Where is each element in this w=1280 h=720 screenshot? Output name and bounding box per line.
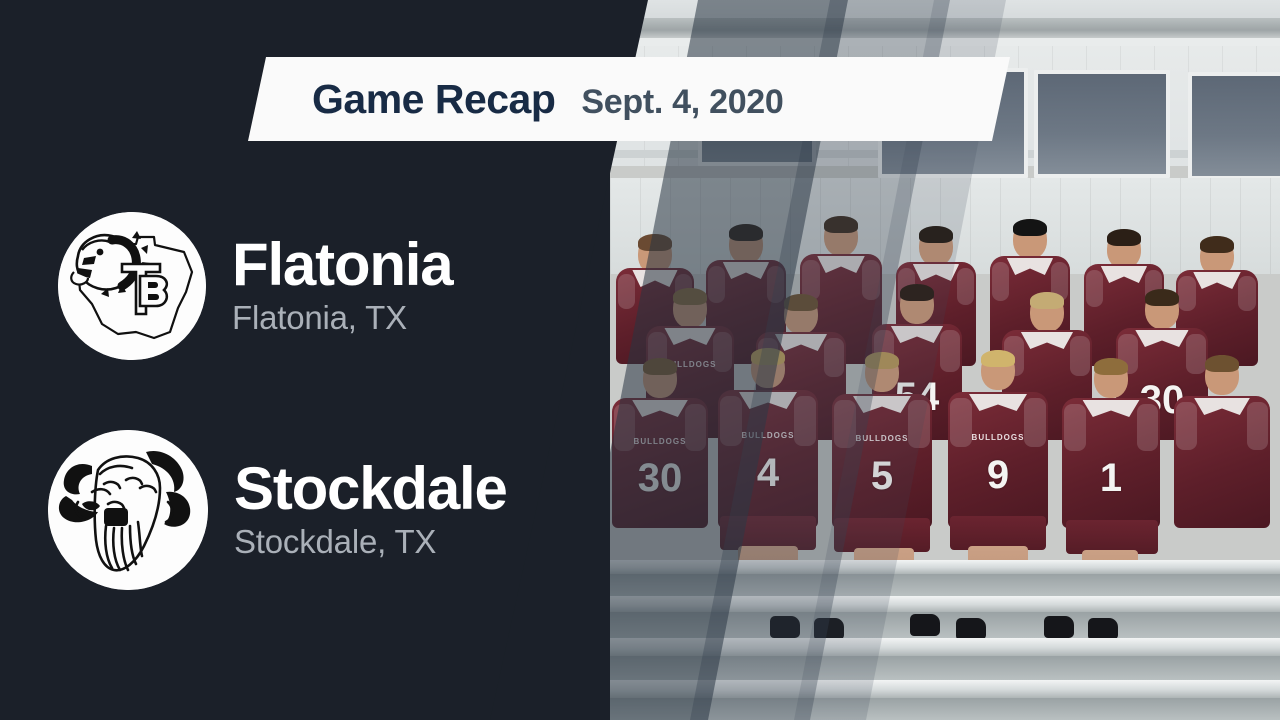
jersey-number: 9	[948, 455, 1048, 495]
jersey-number: 1	[1062, 458, 1160, 498]
jersey-number: 30	[612, 458, 708, 498]
pressbox-window	[1034, 70, 1170, 178]
game-date: Sept. 4, 2020	[581, 83, 783, 122]
photo-bleachers	[610, 556, 1280, 720]
game-recap-graphic: BULLDOGS 54	[0, 0, 1280, 720]
team-row-stockdale[interactable]: Stockdale Stockdale, TX	[48, 430, 507, 590]
page-title: Game Recap	[312, 76, 555, 123]
pressbox-window	[1188, 72, 1280, 180]
team-location: Flatonia, TX	[232, 297, 452, 338]
player: BULLDOGS 30	[612, 398, 708, 528]
team-name: Stockdale	[234, 458, 507, 519]
jersey-wordmark: BULLDOGS	[832, 434, 932, 443]
jersey-wordmark: BULLDOGS	[612, 437, 708, 446]
jersey-wordmark: BULLDOGS	[948, 433, 1048, 442]
bulldog-texas-fb-logo-icon	[58, 212, 206, 360]
brahman-bull-head-logo-icon	[48, 430, 208, 590]
team-name: Flatonia	[232, 234, 452, 295]
photo-roof-eave	[610, 18, 1280, 40]
player: 1	[1062, 398, 1160, 528]
team-row-flatonia[interactable]: Flatonia Flatonia, TX	[58, 212, 452, 360]
photo-players: BULLDOGS 54	[610, 248, 1280, 578]
player: BULLDOGS 4	[718, 390, 818, 528]
player	[1174, 396, 1270, 528]
player: BULLDOGS 5	[832, 394, 932, 528]
team-location: Stockdale, TX	[234, 521, 507, 562]
player: BULLDOGS 9	[948, 392, 1048, 528]
jersey-number: 5	[832, 456, 932, 496]
game-recap-banner: Game Recap Sept. 4, 2020	[248, 57, 1010, 141]
jersey-number: 4	[718, 453, 818, 493]
jersey-wordmark: BULLDOGS	[718, 431, 818, 440]
